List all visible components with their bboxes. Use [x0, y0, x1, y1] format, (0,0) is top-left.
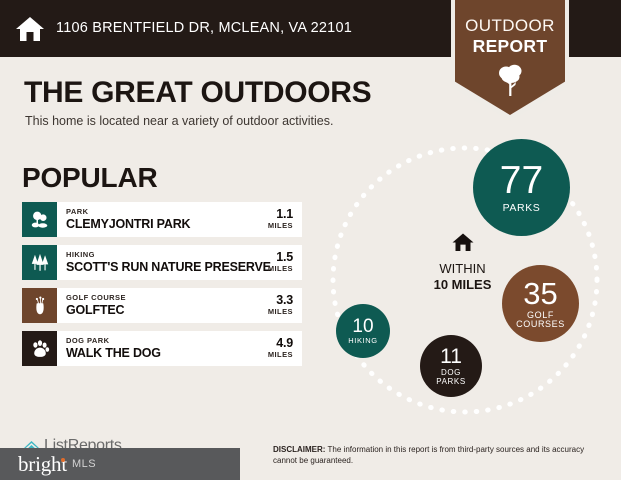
list-item-category: GOLF COURSE — [66, 293, 268, 303]
stat-value: 10 — [352, 317, 373, 336]
list-item-distance: 1.5 MILES — [268, 251, 302, 274]
list-item-name: GOLFTEC — [66, 303, 268, 318]
list-item-category: PARK — [66, 207, 268, 217]
list-item-text: DOG PARK WALK THE DOG — [57, 336, 268, 361]
distance-value: 3.3 — [268, 294, 293, 307]
stat-label-line2: COURSES — [516, 319, 565, 329]
distance-value: 4.9 — [268, 337, 293, 350]
property-address: 1106 BRENTFIELD DR, MCLEAN, VA 22101 — [56, 20, 352, 36]
list-item-distance: 1.1 MILES — [268, 208, 302, 231]
distance-value: 1.1 — [268, 208, 293, 221]
radius-line1: WITHIN — [400, 261, 525, 277]
list-item-distance: 3.3 MILES — [268, 294, 302, 317]
stat-label: PARKS — [503, 203, 541, 214]
disclaimer-label: DISCLAIMER: — [273, 445, 325, 454]
popular-section-heading: POPULAR — [22, 162, 158, 194]
outdoor-report-page: 1106 BRENTFIELD DR, MCLEAN, VA 22101 OUT… — [0, 0, 621, 480]
stat-label: GOLF COURSES — [516, 311, 565, 330]
outdoor-report-badge: OUTDOOR REPORT — [451, 0, 569, 121]
bright-dot-icon — [61, 458, 65, 462]
page-subtitle: This home is located near a variety of o… — [25, 114, 333, 128]
disclaimer: DISCLAIMER: The information in this repo… — [273, 444, 603, 466]
distance-unit: MILES — [268, 350, 293, 360]
badge-line2: REPORT — [451, 36, 569, 57]
mls-wordmark: MLS — [72, 458, 96, 470]
list-item-category: HIKING — [66, 250, 268, 260]
list-item[interactable]: DOG PARK WALK THE DOG 4.9 MILES — [22, 331, 302, 366]
radius-center-label: WITHIN 10 MILES — [400, 232, 525, 293]
list-item-name: CLEMYJONTRI PARK — [66, 217, 268, 232]
list-item-name: SCOTT'S RUN NATURE PRESERVE — [66, 260, 268, 275]
list-item-distance: 4.9 MILES — [268, 337, 302, 360]
stat-value: 35 — [523, 278, 557, 309]
bright-mls-logo[interactable]: bright MLS — [0, 448, 240, 480]
distance-unit: MILES — [268, 307, 293, 317]
golf-bag-icon — [22, 288, 57, 323]
stat-label-line2: PARKS — [436, 377, 466, 386]
popular-list: PARK CLEMYJONTRI PARK 1.1 MILES HIKING S… — [22, 202, 302, 374]
stat-value: 11 — [440, 346, 462, 367]
paw-print-icon — [22, 331, 57, 366]
distance-value: 1.5 — [268, 251, 293, 264]
pine-trees-icon — [22, 245, 57, 280]
home-icon — [452, 232, 474, 252]
badge-line1: OUTDOOR — [451, 16, 569, 36]
park-trees-icon — [22, 202, 57, 237]
stat-bubble-dog-parks[interactable]: 11 DOG PARKS — [420, 335, 482, 397]
list-item[interactable]: PARK CLEMYJONTRI PARK 1.1 MILES — [22, 202, 302, 237]
distance-unit: MILES — [268, 221, 293, 231]
list-item-text: HIKING SCOTT'S RUN NATURE PRESERVE — [57, 250, 268, 275]
list-item-text: GOLF COURSE GOLFTEC — [57, 293, 268, 318]
stat-label: DOG PARKS — [436, 369, 466, 386]
bright-wordmark: bright — [18, 452, 67, 477]
home-icon — [15, 15, 45, 43]
distance-unit: MILES — [268, 264, 293, 274]
list-item-name: WALK THE DOG — [66, 346, 268, 361]
radius-line2: 10 MILES — [400, 277, 525, 293]
list-item[interactable]: GOLF COURSE GOLFTEC 3.3 MILES — [22, 288, 302, 323]
list-item-text: PARK CLEMYJONTRI PARK — [57, 207, 268, 232]
stat-bubble-hiking[interactable]: 10 HIKING — [336, 304, 390, 358]
outdoor-amenities-infographic: 77 PARKS 35 GOLF COURSES 11 DOG PARKS 10… — [310, 130, 621, 430]
stat-label: HIKING — [348, 337, 377, 345]
tree-icon — [498, 62, 523, 97]
stat-bubble-parks[interactable]: 77 PARKS — [473, 139, 570, 236]
list-item-category: DOG PARK — [66, 336, 268, 346]
stat-value: 77 — [500, 161, 543, 200]
list-item[interactable]: HIKING SCOTT'S RUN NATURE PRESERVE 1.5 M… — [22, 245, 302, 280]
page-title: THE GREAT OUTDOORS — [24, 76, 371, 110]
